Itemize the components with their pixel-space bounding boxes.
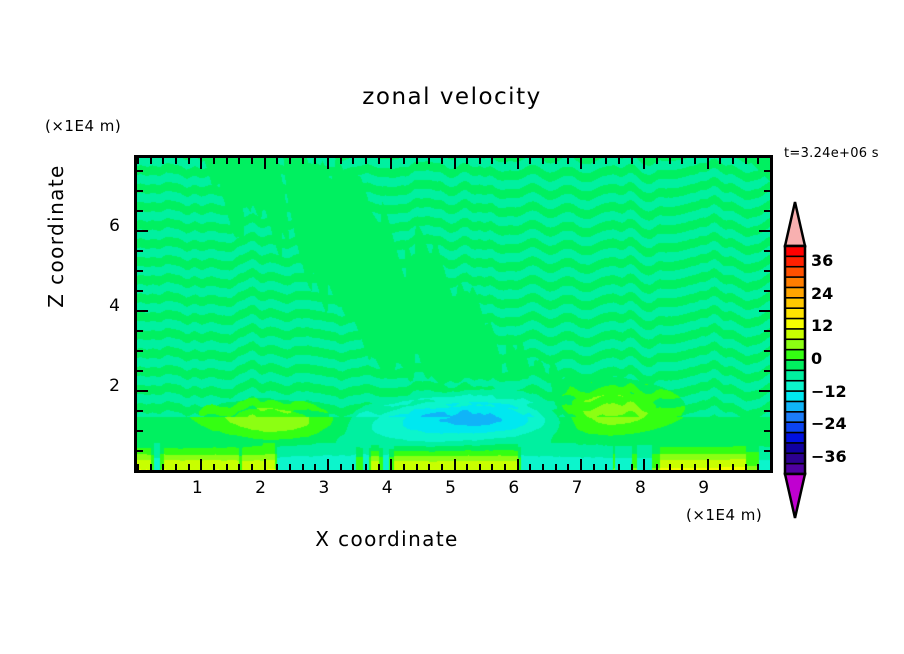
tick-mark [137, 310, 148, 312]
tick-mark [618, 464, 620, 470]
colorbar-gradient [779, 200, 813, 520]
tick-mark [643, 459, 645, 470]
tick-mark [137, 230, 148, 232]
x-axis-title: X coordinate [0, 527, 774, 551]
tick-mark [137, 470, 143, 472]
tick-mark [175, 158, 177, 164]
y-tick-label: 2 [90, 376, 120, 396]
tick-mark [491, 158, 493, 164]
tick-mark [137, 450, 143, 452]
tick-mark [542, 464, 544, 470]
tick-mark [378, 464, 380, 470]
tick-mark [352, 158, 354, 164]
tick-mark [352, 464, 354, 470]
x-axis-unit-label: (×1E4 m) [686, 506, 762, 524]
tick-mark [529, 158, 531, 164]
tick-mark [137, 290, 143, 292]
tick-mark [137, 250, 143, 252]
tick-mark [175, 464, 177, 470]
tick-mark [504, 464, 506, 470]
x-tick-label: 9 [689, 478, 719, 498]
tick-mark [764, 410, 770, 412]
tick-mark [454, 459, 456, 470]
tick-mark [757, 464, 759, 470]
tick-mark [200, 158, 202, 169]
tick-mark [764, 190, 770, 192]
tick-mark [403, 158, 405, 164]
tick-mark [416, 158, 418, 164]
tick-mark [390, 158, 392, 169]
tick-mark [276, 158, 278, 164]
tick-mark [137, 370, 143, 372]
tick-mark [466, 464, 468, 470]
tick-mark [529, 464, 531, 470]
tick-mark [631, 158, 633, 164]
colorbar-tick-label: 36 [811, 251, 833, 270]
tick-mark [593, 158, 595, 164]
tick-mark [137, 350, 143, 352]
tick-mark [340, 464, 342, 470]
x-tick-label: 5 [436, 478, 466, 498]
tick-mark [137, 210, 143, 212]
y-axis-unit-label: (×1E4 m) [45, 117, 121, 135]
tick-mark [188, 464, 190, 470]
tick-mark [669, 158, 671, 164]
colorbar-tick-label: 24 [811, 284, 833, 303]
tick-mark [466, 158, 468, 164]
tick-mark [365, 158, 367, 164]
tick-mark [137, 158, 139, 164]
tick-mark [764, 290, 770, 292]
x-tick-label: 2 [246, 478, 276, 498]
tick-mark [276, 464, 278, 470]
tick-mark [764, 250, 770, 252]
tick-mark [238, 464, 240, 470]
tick-mark [454, 158, 456, 169]
tick-mark [416, 464, 418, 470]
tick-mark [567, 464, 569, 470]
colorbar-tick-label: −24 [811, 414, 847, 433]
tick-mark [162, 158, 164, 164]
tick-mark [656, 464, 658, 470]
tick-mark [764, 450, 770, 452]
tick-mark [200, 459, 202, 470]
tick-mark [707, 459, 709, 470]
tick-mark [213, 464, 215, 470]
chart-title: zonal velocity [0, 84, 904, 110]
tick-mark [226, 464, 228, 470]
tick-mark [403, 464, 405, 470]
y-tick-label: 6 [90, 216, 120, 236]
tick-mark [264, 158, 266, 169]
tick-mark [150, 158, 152, 164]
tick-mark [441, 158, 443, 164]
tick-mark [251, 464, 253, 470]
tick-mark [764, 270, 770, 272]
tick-mark [764, 330, 770, 332]
tick-mark [340, 158, 342, 164]
tick-mark [213, 158, 215, 164]
tick-mark [567, 158, 569, 164]
tick-mark [137, 410, 143, 412]
tick-mark [150, 464, 152, 470]
tick-mark [517, 459, 519, 470]
tick-mark [631, 464, 633, 470]
tick-mark [764, 210, 770, 212]
chart-root: zonal velocity (×1E4 m) (×1E4 m) X coord… [0, 0, 904, 654]
tick-mark [302, 158, 304, 164]
tick-mark [681, 464, 683, 470]
tick-mark [732, 158, 734, 164]
tick-mark [681, 158, 683, 164]
tick-mark [745, 464, 747, 470]
tick-mark [719, 158, 721, 164]
tick-mark [479, 464, 481, 470]
colorbar-tick-label: 0 [811, 349, 822, 368]
tick-mark [264, 459, 266, 470]
tick-mark [378, 158, 380, 164]
plot-area [134, 155, 773, 473]
tick-mark [759, 230, 770, 232]
x-tick-label: 3 [309, 478, 339, 498]
tick-mark [605, 464, 607, 470]
tick-mark [137, 430, 143, 432]
tick-mark [542, 158, 544, 164]
tick-mark [428, 158, 430, 164]
tick-mark [764, 370, 770, 372]
contour-field [137, 158, 770, 470]
tick-mark [137, 190, 143, 192]
tick-mark [327, 459, 329, 470]
x-tick-label: 8 [625, 478, 655, 498]
tick-mark [479, 158, 481, 164]
tick-mark [555, 158, 557, 164]
tick-mark [745, 158, 747, 164]
tick-mark [327, 158, 329, 169]
tick-mark [643, 158, 645, 169]
tick-mark [365, 464, 367, 470]
tick-mark [732, 464, 734, 470]
tick-mark [390, 459, 392, 470]
tick-mark [428, 464, 430, 470]
tick-mark [580, 459, 582, 470]
x-tick-label: 4 [372, 478, 402, 498]
time-annotation: t=3.24e+06 s [784, 146, 879, 161]
tick-mark [555, 464, 557, 470]
tick-mark [759, 310, 770, 312]
tick-mark [764, 170, 770, 172]
x-tick-label: 7 [562, 478, 592, 498]
tick-mark [289, 158, 291, 164]
tick-mark [441, 464, 443, 470]
tick-mark [694, 158, 696, 164]
tick-mark [605, 158, 607, 164]
tick-mark [669, 464, 671, 470]
tick-mark [226, 158, 228, 164]
tick-mark [770, 464, 772, 470]
colorbar-tick-label: −36 [811, 447, 847, 466]
tick-mark [137, 270, 143, 272]
tick-mark [764, 470, 770, 472]
tick-mark [757, 158, 759, 164]
tick-mark [491, 464, 493, 470]
y-axis-title: Z coordinate [44, 136, 68, 336]
colorbar-tick-label: −12 [811, 382, 847, 401]
tick-mark [314, 158, 316, 164]
tick-mark [759, 390, 770, 392]
tick-mark [238, 158, 240, 164]
tick-mark [707, 158, 709, 169]
tick-mark [137, 170, 143, 172]
x-tick-label: 1 [182, 478, 212, 498]
tick-mark [137, 330, 143, 332]
tick-mark [618, 158, 620, 164]
colorbar: 3624120−12−24−36 [779, 200, 813, 520]
tick-mark [656, 158, 658, 164]
tick-mark [719, 464, 721, 470]
tick-mark [137, 390, 148, 392]
tick-mark [764, 430, 770, 432]
tick-mark [580, 158, 582, 169]
tick-mark [302, 464, 304, 470]
colorbar-tick-label: 12 [811, 316, 833, 335]
y-tick-label: 4 [90, 296, 120, 316]
tick-mark [289, 464, 291, 470]
tick-mark [593, 464, 595, 470]
tick-mark [188, 158, 190, 164]
tick-mark [517, 158, 519, 169]
tick-mark [694, 464, 696, 470]
tick-mark [251, 158, 253, 164]
tick-mark [162, 464, 164, 470]
tick-mark [764, 350, 770, 352]
x-tick-label: 6 [499, 478, 529, 498]
tick-mark [314, 464, 316, 470]
tick-mark [770, 158, 772, 164]
tick-mark [504, 158, 506, 164]
